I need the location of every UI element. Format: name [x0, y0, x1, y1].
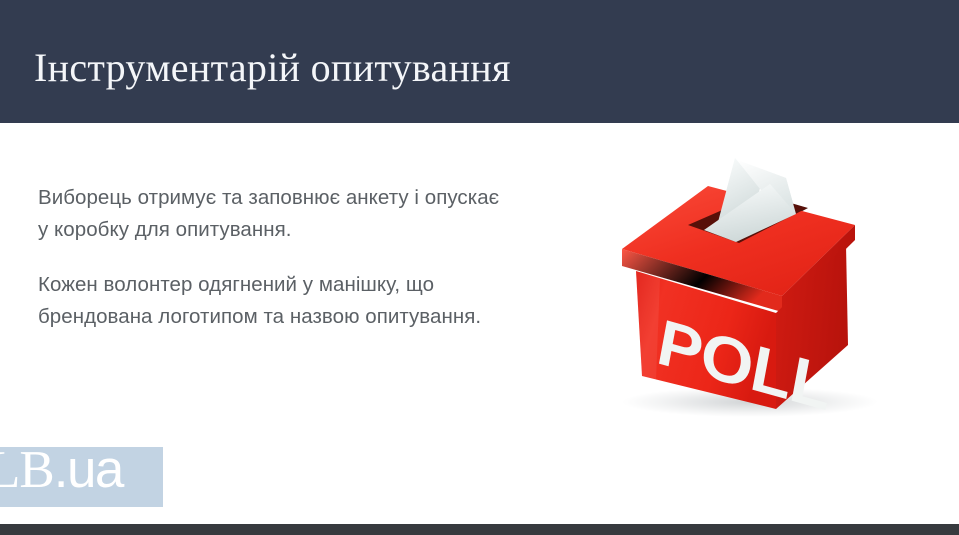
- logo-serif-part: LB: [0, 447, 54, 499]
- footer-bar: [0, 524, 959, 535]
- header-banner: Інструментарій опитування: [0, 0, 959, 123]
- slide-canvas: Інструментарій опитування Виборець отрим…: [0, 0, 959, 535]
- page-title: Інструментарій опитування: [34, 43, 511, 93]
- paragraph-1: Виборець отримує та заповнює анкету і оп…: [38, 182, 508, 246]
- lb-ua-logo: LB.ua: [0, 447, 163, 507]
- ballot-box-image: POLL: [600, 130, 940, 420]
- logo-sans-part: .ua: [54, 447, 123, 499]
- logo-text: LB.ua: [0, 447, 123, 500]
- body-copy: Виборець отримує та заповнює анкету і оп…: [38, 182, 508, 333]
- paragraph-2: Кожен волонтер одягнений у манішку, що б…: [38, 269, 508, 333]
